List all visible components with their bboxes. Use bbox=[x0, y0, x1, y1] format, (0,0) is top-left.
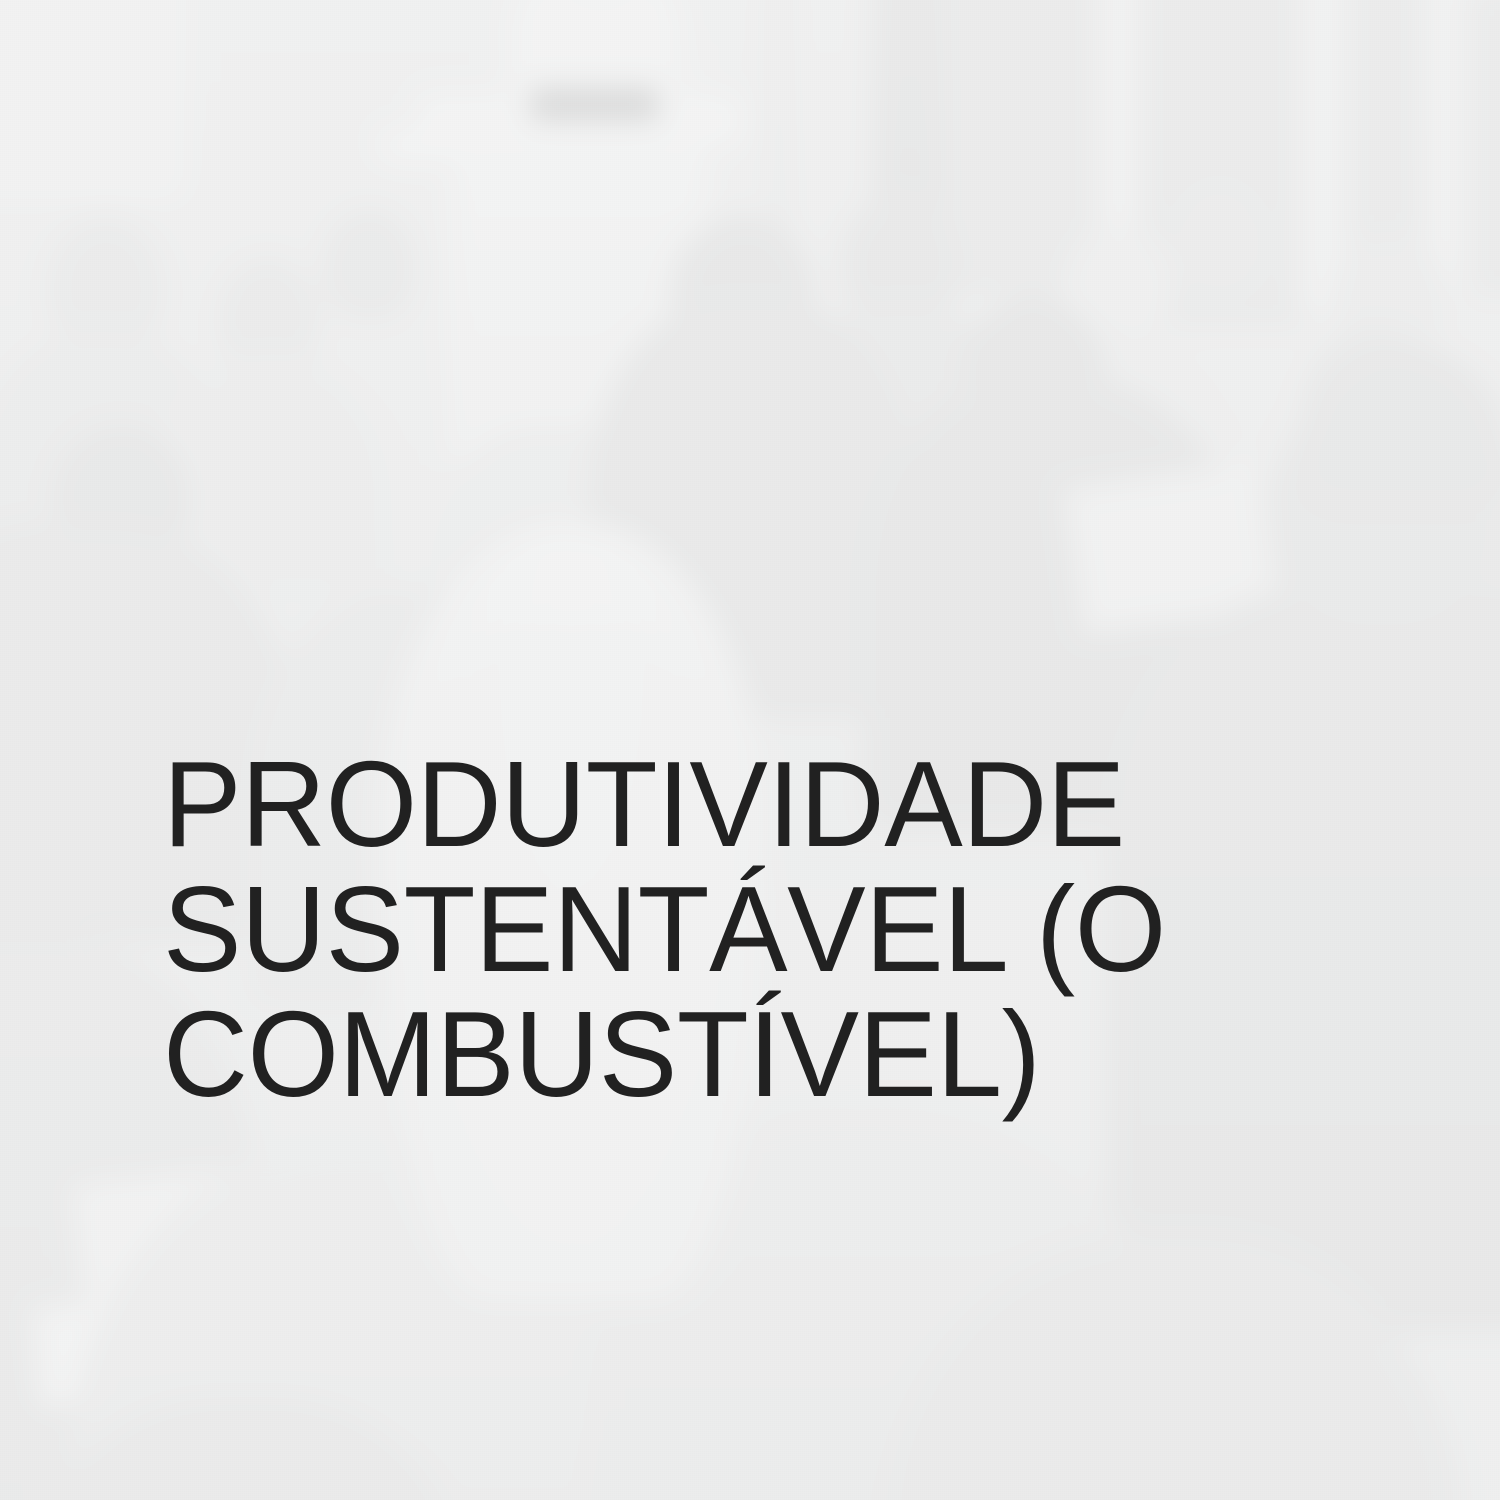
window-pane bbox=[1463, 0, 1500, 296]
window-mullion bbox=[1430, 0, 1466, 296]
headline-title: PRODUTIVIDADE SUSTENTÁVEL (O COMBUSTÍVEL… bbox=[163, 742, 1393, 1117]
window-mullion bbox=[1301, 0, 1346, 313]
headline-line-2: SUSTENTÁVEL (O bbox=[163, 867, 1350, 992]
wall-panel bbox=[0, 0, 183, 199]
headline-line-1: PRODUTIVIDADE bbox=[163, 742, 1350, 867]
audience-head bbox=[321, 207, 418, 320]
podium-sign bbox=[531, 89, 657, 120]
title-card: PRODUTIVIDADE SUSTENTÁVEL (O COMBUSTÍVEL… bbox=[0, 0, 1500, 1500]
headline-line-3: COMBUSTÍVEL) bbox=[163, 992, 1350, 1117]
